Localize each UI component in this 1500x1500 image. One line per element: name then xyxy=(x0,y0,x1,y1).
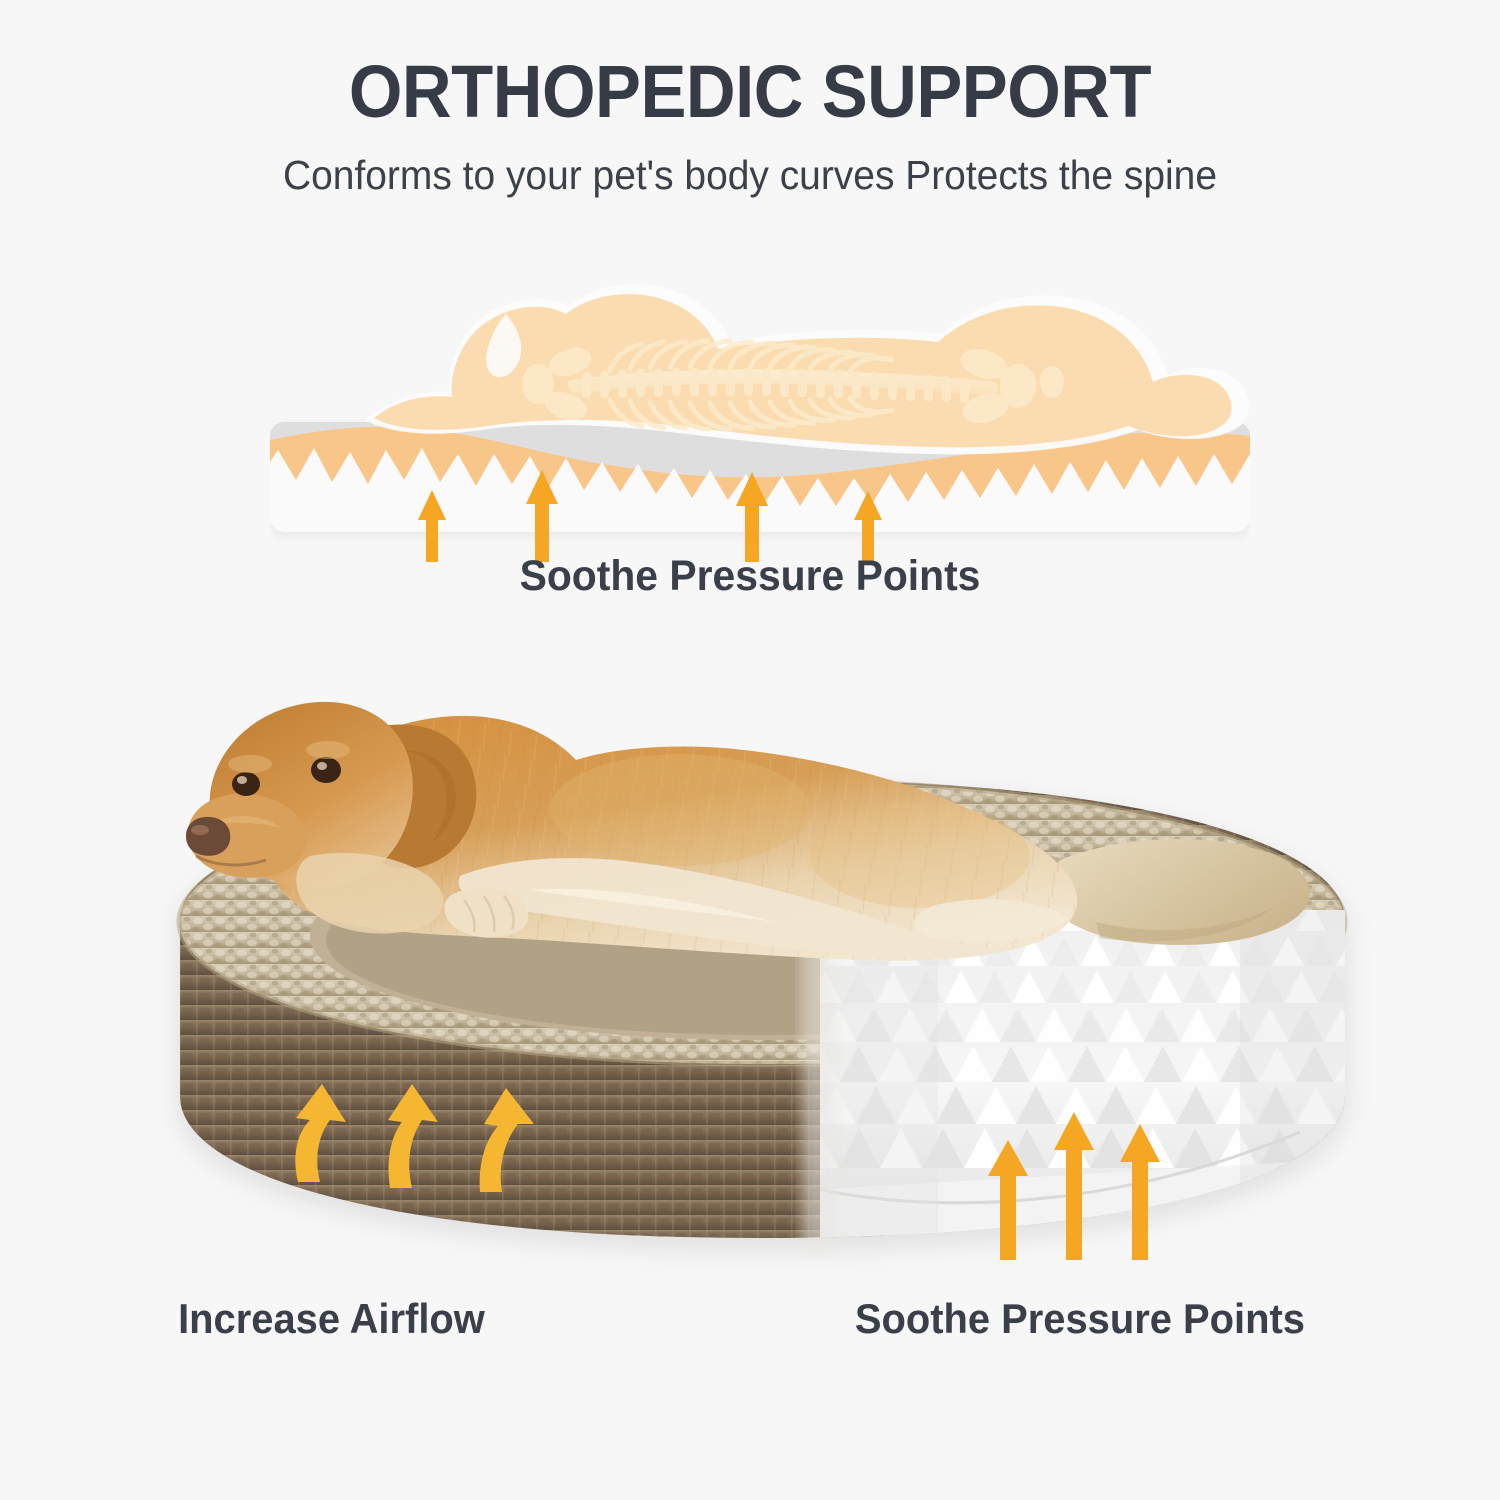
header-block: ORTHOPEDIC SUPPORT Conforms to your pet'… xyxy=(0,0,1500,196)
label-increase-airflow: Increase Airflow xyxy=(178,1295,485,1343)
dog-eye-left xyxy=(232,772,260,796)
label-soothe-pressure-points: Soothe Pressure Points xyxy=(855,1295,1305,1343)
product-photo-composite xyxy=(60,660,1460,1320)
dog-eye-right xyxy=(311,757,341,783)
diagram-caption: Soothe Pressure Points xyxy=(38,552,1463,601)
product-infographic-page: ORTHOPEDIC SUPPORT Conforms to your pet'… xyxy=(0,0,1500,1500)
page-title: ORTHOPEDIC SUPPORT xyxy=(53,0,1448,129)
dog-tail xyxy=(1047,839,1310,945)
feature-labels: Increase Airflow Soothe Pressure Points xyxy=(0,1295,1500,1355)
dog-nose xyxy=(186,817,230,856)
page-subtitle: Conforms to your pet's body curves Prote… xyxy=(38,129,1463,196)
orthopedic-support-diagram xyxy=(270,272,1250,562)
